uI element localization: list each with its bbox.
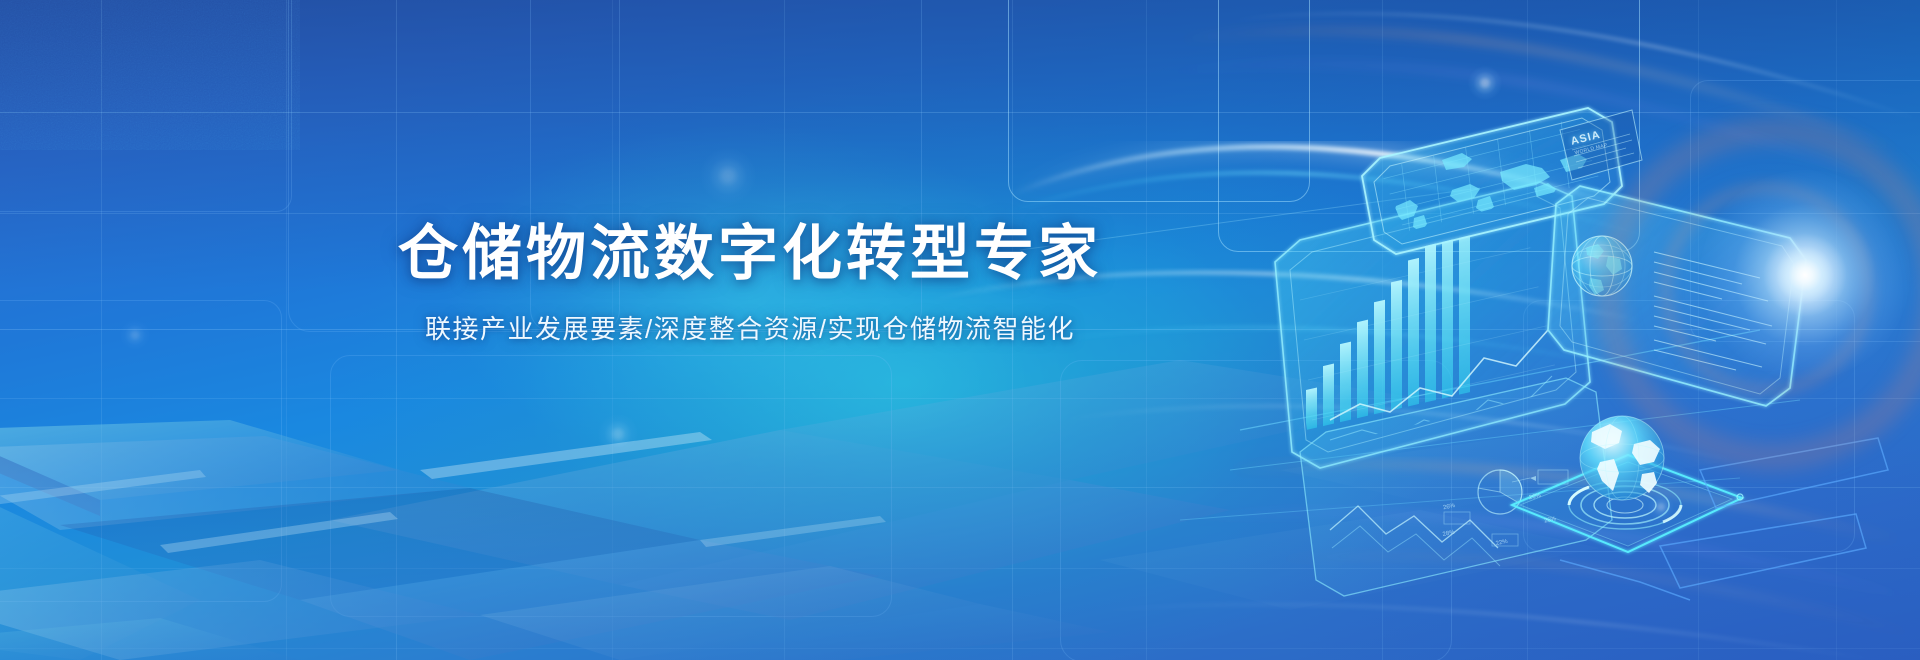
hero-text-block: 仓储物流数字化转型专家 联接产业发展要素/深度整合资源/实现仓储物流智能化	[0, 222, 1500, 347]
pct-label-1: 26%	[1528, 493, 1541, 501]
pct-label-3: 22%	[1495, 539, 1508, 547]
hero-banner: 仓储物流数字化转型专家 联接产业发展要素/深度整合资源/实现仓储物流智能化 AS…	[0, 0, 1920, 660]
page-subtitle: 联接产业发展要素/深度整合资源/实现仓储物流智能化	[0, 313, 1500, 347]
pct-label-0: 26%	[1443, 503, 1456, 511]
pct-label-2: 28%	[1442, 530, 1455, 538]
page-title: 仓储物流数字化转型专家	[0, 222, 1500, 287]
globe-wireframe-icon	[1572, 236, 1632, 296]
chart-percent-labels: 26% 26% 28% 22% 26%	[1443, 468, 1634, 574]
panel-text-lines	[1654, 252, 1772, 370]
map-panel-label-group: ASIA WORLD MAP	[1570, 117, 1655, 165]
globe-info-panel	[1548, 186, 1806, 406]
pct-label-4: 26%	[1544, 516, 1557, 524]
noise-texture	[0, 0, 300, 150]
